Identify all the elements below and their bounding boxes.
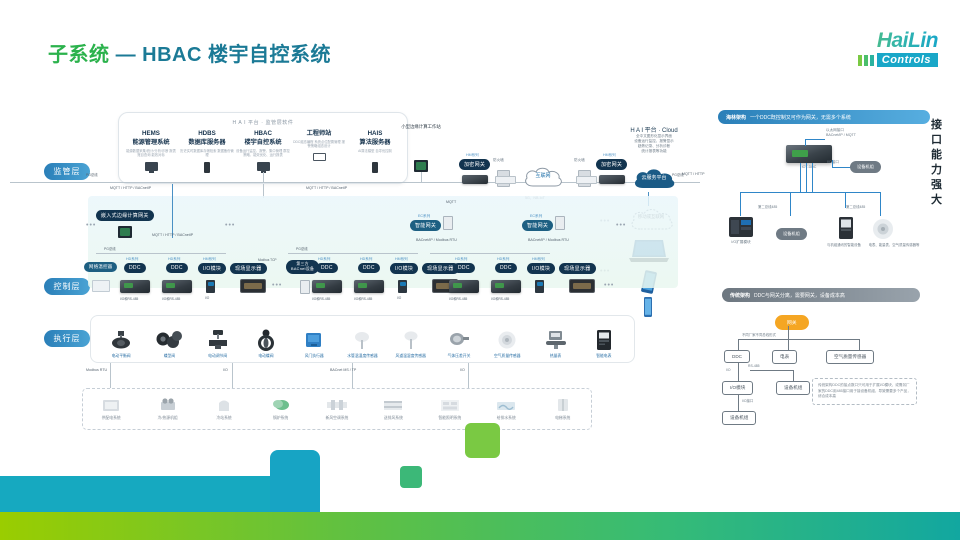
ellipsis-dots: ••• bbox=[604, 282, 614, 289]
ellipsis-dots: ••• bbox=[272, 282, 282, 289]
footer-gradient-bar bbox=[0, 512, 960, 540]
supervision-item[interactable]: HDBS 数据库服务器 历史实时数据库存储检索 数据备份管理 bbox=[180, 130, 234, 172]
field-display-chip-1[interactable]: 现场显示器 bbox=[230, 263, 267, 274]
ddc-device-icon-1 bbox=[120, 280, 150, 293]
pipe-sensor-icon bbox=[339, 328, 385, 352]
server-icon bbox=[200, 162, 214, 172]
bus-label-left: PG总线 bbox=[86, 172, 98, 177]
execution-device[interactable]: 智能电表 bbox=[581, 328, 627, 359]
execution-device[interactable]: 热量表 bbox=[533, 328, 579, 359]
system-label: 锅炉系统 bbox=[256, 416, 306, 421]
device-label: 智能电表 bbox=[581, 354, 627, 359]
execution-device[interactable]: 气体压差开关 bbox=[436, 328, 482, 359]
execution-device[interactable]: 电动调节阀 bbox=[195, 328, 241, 359]
supervision-item[interactable]: HAIS 算法服务器 AI算法模型 自寻优控制 bbox=[348, 130, 402, 172]
connector bbox=[740, 192, 741, 216]
wan-protocol-label: MQTT / HTTP bbox=[682, 172, 705, 176]
traditional-io-module-node[interactable]: I/O模块 bbox=[722, 381, 753, 395]
connector bbox=[738, 394, 739, 412]
exec-protocol-2: BACnet MS / TP bbox=[330, 368, 356, 372]
device-label: 气体压差开关 bbox=[436, 354, 482, 359]
motor-valve-icon bbox=[243, 328, 289, 352]
system-label: 电梯系统 bbox=[538, 416, 588, 421]
ethernet-port-label: 以太网接口 BACnet/IP / MQTT bbox=[826, 128, 896, 138]
cloud-service-label: 云服务平台 bbox=[634, 174, 674, 181]
ddc-device-icon-5 bbox=[449, 280, 479, 293]
bus-protocol-1: BACnet/IP / Modbus RTU bbox=[416, 238, 457, 242]
building-system[interactable]: 电梯系统 bbox=[538, 397, 588, 421]
ahu-icon bbox=[312, 397, 362, 413]
connector bbox=[738, 362, 739, 382]
io-module-chip-1[interactable]: I/O模块 bbox=[198, 263, 226, 274]
water-icon bbox=[481, 397, 531, 413]
execution-devices-panel: 电动平衡阀 蝶型阀 电动调节阀 电动蝶阀 bbox=[90, 315, 635, 363]
layer-pill-control: 控制层 bbox=[44, 278, 90, 295]
device-label: 风道温湿度传感器 bbox=[388, 354, 434, 359]
title-dash: — bbox=[116, 44, 143, 66]
gateway-series-1: HM系列 bbox=[466, 153, 479, 158]
item-name: 能源管理系统 bbox=[124, 138, 178, 147]
boiler-icon bbox=[256, 397, 306, 413]
connector bbox=[738, 339, 860, 340]
gateway-series-ec-1: EC系列 bbox=[418, 214, 430, 219]
logo-bars-icon bbox=[858, 55, 874, 66]
edge-protocol-label: MQTT / HTTP / BACnetIP bbox=[152, 233, 193, 237]
network-thermostat-icon bbox=[92, 280, 110, 292]
connector bbox=[750, 370, 794, 371]
firewall-icon-1 bbox=[497, 170, 510, 187]
power-system-icon bbox=[86, 397, 136, 413]
smart-device-icon bbox=[838, 216, 854, 245]
hailin-architecture-pill: 海林架构 一个DDC既控制又可作为网关，无需多个系统 bbox=[718, 110, 930, 124]
traditional-architecture-pill: 传统架构 DDC与网关分离，需要网关，设备成本高 bbox=[722, 288, 920, 302]
supervision-item[interactable]: HEMS 能源管理系统 能源数据采集/统计/分析/诊断 报表 账目查询 能效对标 bbox=[124, 130, 178, 172]
protocol-label-top2: MQTT / HTTP / BACnetIP bbox=[306, 186, 347, 190]
item-name: 数据库服务器 bbox=[180, 138, 234, 147]
system-label: 冷站系统 bbox=[199, 416, 249, 421]
network-thermostat-chip[interactable]: 网络温控器 bbox=[84, 262, 117, 272]
traditional-meter-node[interactable]: 电表 bbox=[772, 350, 797, 364]
embedded-edge-gateway-chip[interactable]: 嵌入式边缘计算网关 bbox=[96, 210, 154, 221]
ddc-chip-6[interactable]: DDC bbox=[495, 263, 517, 273]
item-desc: DDC组态编程 系统点位配置管理 报警策略组态设计 bbox=[292, 140, 346, 152]
fan-icon bbox=[368, 397, 418, 413]
gateway-series-2: HM系列 bbox=[603, 153, 616, 158]
phone-device-icon bbox=[641, 296, 655, 323]
smart-gateway-2[interactable]: 智能网关 bbox=[522, 220, 553, 231]
connector bbox=[812, 163, 813, 193]
gateway-hw-icon-2 bbox=[555, 216, 565, 230]
gateway-device-icon-1 bbox=[462, 175, 488, 184]
ddc-series-3: HD系列 bbox=[318, 257, 330, 262]
ddc-chip-1[interactable]: DDC bbox=[124, 263, 146, 273]
firewall-icon-2 bbox=[578, 170, 591, 187]
io-module-icon-2 bbox=[398, 280, 407, 293]
item-name: 楼宇自控系统 bbox=[236, 138, 290, 147]
io-expansion-label: I/O扩展模块 bbox=[718, 240, 764, 245]
ddc-proto-4: I/O和RS-485 bbox=[354, 296, 372, 301]
pg-bus-mid: PG总线 bbox=[296, 246, 308, 251]
io-series-1: HM系列 bbox=[203, 257, 216, 262]
vertical-text-content: 接口能力强大 bbox=[931, 119, 943, 206]
ddc-proto-5: I/O和RS-485 bbox=[449, 296, 467, 301]
firewall-label-2: 防火墙 bbox=[574, 158, 585, 163]
execution-device[interactable]: 风门执行器 bbox=[291, 328, 337, 359]
logo-wordmark: HaiLin bbox=[818, 30, 938, 52]
io-module-icon-3 bbox=[535, 280, 544, 293]
hailin-arch-text: 一个DDC既控制又可作为网关，无需多个系统 bbox=[750, 114, 851, 121]
io-proto-2: I/O bbox=[397, 296, 401, 300]
supervision-item[interactable]: 工程师站 DDC组态编程 系统点位配置管理 报警策略组态设计 bbox=[292, 130, 346, 172]
server-icon bbox=[368, 162, 382, 172]
pg-bus-line-2 bbox=[288, 253, 418, 254]
protocol-label-top: MQTT / HTTP / BACnetIP bbox=[110, 186, 151, 190]
io-proto-label: I/O bbox=[726, 368, 731, 372]
air-quality-icon bbox=[484, 328, 530, 352]
item-code: HAIS bbox=[348, 130, 402, 138]
gateway-device-icon-2 bbox=[599, 175, 625, 184]
connector bbox=[110, 363, 111, 388]
building-systems-panel: 供配电系统 冷/热源机组 冷站系统 锅炉系统 新风空调系统 送排风系统 bbox=[82, 388, 592, 430]
building-system[interactable]: 冷/热源机组 bbox=[143, 397, 193, 421]
item-desc: 历史实时数据库存储检索 数据备份管理 bbox=[180, 149, 234, 161]
building-system[interactable]: 智能照明系统 bbox=[425, 397, 475, 421]
device-unit-chip-1[interactable]: 设备机组 bbox=[850, 161, 881, 173]
system-label: 给排水系统 bbox=[481, 416, 531, 421]
connector bbox=[263, 172, 264, 183]
ddc-device-icon-2 bbox=[162, 280, 192, 293]
ddc-chip-3[interactable]: DDC bbox=[316, 263, 338, 273]
ddc-proto-3: I/O和RS-485 bbox=[312, 296, 330, 301]
ddc-series-6: HD系列 bbox=[497, 257, 509, 262]
smart-meter-icon bbox=[581, 328, 627, 352]
field-display-chip-3[interactable]: 现场显示器 bbox=[559, 263, 596, 274]
building-system[interactable]: 给排水系统 bbox=[481, 397, 531, 421]
ellipsis-dots: ••• bbox=[86, 222, 96, 229]
supervision-panel-title: H A I 平台 · 监管层软件 bbox=[119, 113, 407, 126]
logo-subtitle: Controls bbox=[877, 53, 938, 67]
gateway-series-ec-2: EC系列 bbox=[530, 214, 542, 219]
vendor-bus-note: 不同厂家不同总线形式 bbox=[742, 332, 776, 337]
exec-protocol-3: I/O bbox=[460, 368, 465, 372]
control-layer-band bbox=[88, 196, 678, 288]
exec-protocol-1: I/O bbox=[223, 368, 228, 372]
item-desc: AI算法模型 自寻优控制 bbox=[348, 149, 402, 161]
execution-device[interactable]: 风道温湿度传感器 bbox=[388, 328, 434, 359]
ellipsis-dots: ••• bbox=[616, 222, 626, 229]
encrypt-gateway-2[interactable]: 加密网关 bbox=[596, 159, 627, 170]
io-module-chip-2[interactable]: I/O模块 bbox=[390, 263, 418, 274]
ddc-proto-1: I/O和RS-485 bbox=[120, 296, 138, 301]
interface-capability-vertical-text: 接口能力强大 bbox=[928, 118, 946, 208]
exec-protocol-0: Modbus RTU bbox=[86, 368, 107, 372]
item-code: HBAC bbox=[236, 130, 290, 138]
building-system[interactable]: 锅炉系统 bbox=[256, 397, 306, 421]
pg-bus-line-3 bbox=[430, 253, 550, 254]
elevator-icon bbox=[538, 397, 588, 413]
building-system[interactable]: 送排风系统 bbox=[368, 397, 418, 421]
internet-label: 互联网 bbox=[526, 172, 560, 179]
item-desc: 能源数据采集/统计/分析/诊断 报表 账目查询 能效对标 bbox=[124, 149, 178, 161]
ddc-proto-6: I/O和RS-485 bbox=[491, 296, 509, 301]
system-label: 智能照明系统 bbox=[425, 416, 475, 421]
gateway-hw-icon-1 bbox=[443, 216, 453, 230]
ddc-device-icon-6 bbox=[491, 280, 521, 293]
traditional-ddc-node[interactable]: DDC bbox=[724, 350, 750, 363]
io-series-2: HM系列 bbox=[395, 257, 408, 262]
execution-device[interactable]: 水管温湿度传感器 bbox=[339, 328, 385, 359]
pressure-switch-icon bbox=[436, 328, 482, 352]
device-label: 热量表 bbox=[533, 354, 579, 359]
traditional-air-sensor-node[interactable]: 空气质量传感器 bbox=[826, 350, 874, 364]
monitor-icon bbox=[144, 162, 158, 172]
slide-root: 子系统 — HBAC 楼宇自控系统 HaiLin Controls 监管层 控制… bbox=[0, 0, 960, 540]
cooling-station-icon bbox=[199, 397, 249, 413]
layer-pill-execution: 执行层 bbox=[44, 330, 90, 347]
ddc-series-4: HD系列 bbox=[360, 257, 372, 262]
bus-protocol-2: BACnet/IP / Modbus RTU bbox=[528, 238, 569, 242]
iot-ddc-label: IOT-DDC bbox=[780, 165, 838, 169]
lighting-icon bbox=[425, 397, 475, 413]
connector bbox=[790, 192, 791, 216]
third-party-device-icon bbox=[300, 280, 310, 294]
edge-workstation-label: 小型边缘计算工作站 bbox=[398, 124, 444, 130]
device-label: 电动调节阀 bbox=[195, 354, 241, 359]
ddc-series-5: HD系列 bbox=[455, 257, 467, 262]
firewall-label-1: 防火墙 bbox=[493, 158, 504, 163]
system-label: 冷/热源机组 bbox=[143, 416, 193, 421]
ellipsis-dots: ••• bbox=[225, 222, 235, 229]
mqtt-label: MQTT bbox=[446, 200, 456, 204]
ddc-device-icon-3 bbox=[312, 280, 342, 293]
modbus-tcp-label: Modbus TCP bbox=[258, 258, 277, 262]
third-party-bacnet-chip[interactable]: 第三方 BACnet设备 bbox=[286, 260, 319, 274]
traditional-arch-text: DDC与网关分离，需要网关，设备成本高 bbox=[754, 292, 845, 299]
decoration-shape-1 bbox=[0, 476, 300, 512]
smart-gateway-1[interactable]: 智能网关 bbox=[410, 220, 441, 231]
field-display-icon-3 bbox=[569, 279, 595, 293]
encrypt-gateway-1[interactable]: 加密网关 bbox=[459, 159, 490, 170]
connector bbox=[788, 326, 789, 340]
connector bbox=[800, 163, 801, 193]
item-name: 算法服务器 bbox=[348, 138, 402, 147]
device-label: 蝶型阀 bbox=[146, 354, 192, 359]
decoration-shape-4 bbox=[465, 423, 500, 458]
hailin-arch-tag: 海林架构 bbox=[726, 114, 746, 121]
system-label: 送排风系统 bbox=[368, 416, 418, 421]
connector bbox=[880, 192, 881, 216]
ddc-device-icon-4 bbox=[354, 280, 384, 293]
edge-gateway-icon bbox=[118, 226, 132, 238]
bus-485-label-2: 第二总线485 bbox=[846, 204, 865, 209]
traditional-device-unit-node-2[interactable]: 设备机组 bbox=[722, 411, 756, 425]
connector bbox=[352, 363, 353, 388]
pg-bus-line-1 bbox=[96, 253, 226, 254]
device-label: 电动平衡阀 bbox=[98, 354, 144, 359]
field-display-icon-1 bbox=[240, 279, 266, 293]
page-title: 子系统 — HBAC 楼宇自控系统 bbox=[48, 38, 331, 67]
execution-device[interactable]: 空气质量传感器 bbox=[484, 328, 530, 359]
item-code: HEMS bbox=[124, 130, 178, 138]
cloud-platform-desc: 全中文图形化显示界面 设备运行监控、报警显示 趋势记录、分析诊断 统计报表等功能 bbox=[608, 134, 700, 154]
building-system[interactable]: 新风空调系统 bbox=[312, 397, 362, 421]
io-proto-1: I/O bbox=[205, 296, 209, 300]
execution-device[interactable]: 蝶型阀 bbox=[146, 328, 192, 359]
sensor-group-label: 电表、能量表、空气质量传感器等 bbox=[862, 242, 926, 247]
chiller-icon bbox=[143, 397, 193, 413]
execution-device[interactable]: 电动蝶阀 bbox=[243, 328, 289, 359]
damper-actuator-icon bbox=[291, 328, 337, 352]
monitor-icon bbox=[256, 162, 270, 172]
ddc-chip-5[interactable]: DDC bbox=[453, 263, 475, 273]
system-label: 新风空调系统 bbox=[312, 416, 362, 421]
gateway-node[interactable]: 网关 bbox=[775, 315, 809, 330]
decoration-shape-2 bbox=[270, 450, 320, 512]
building-system[interactable]: 冷站系统 bbox=[199, 397, 249, 421]
bus-485-label-1: 第二总线485 bbox=[758, 204, 777, 209]
hailin-logo: HaiLin Controls bbox=[818, 30, 938, 76]
item-desc: 设备运行监控、报警、集中管理 群控策略、能效优化、运行报表 bbox=[236, 149, 290, 161]
connector bbox=[740, 192, 880, 193]
io-module-icon-1 bbox=[206, 280, 215, 293]
device-label: 电动蝶阀 bbox=[243, 354, 289, 359]
balance-valve-icon bbox=[98, 328, 144, 352]
io-expansion-device-icon bbox=[728, 216, 754, 243]
connector bbox=[232, 363, 233, 388]
title-blue-part: HBAC 楼宇自控系统 bbox=[142, 44, 331, 66]
system-label: 供配电系统 bbox=[86, 416, 136, 421]
connector bbox=[421, 172, 422, 182]
io-series-3: HM系列 bbox=[532, 257, 545, 262]
traditional-note: 传统架构DDC的接点数口只可用于扩展I/O模块，或需另厂家的DDC用485接口用… bbox=[812, 378, 917, 405]
decoration-shape-3 bbox=[400, 466, 422, 488]
duct-sensor-icon bbox=[388, 328, 434, 352]
air-quality-sensor-icon bbox=[872, 218, 894, 245]
building-system[interactable]: 供配电系统 bbox=[86, 397, 136, 421]
heat-meter-icon bbox=[533, 328, 579, 352]
item-code: 工程师站 bbox=[292, 130, 346, 138]
traditional-arch-tag: 传统架构 bbox=[730, 292, 750, 299]
connector bbox=[805, 139, 825, 140]
device-unit-chip-2[interactable]: 设备机组 bbox=[776, 228, 807, 240]
title-green-part: 子系统 bbox=[48, 44, 116, 66]
io-module-chip-3[interactable]: I/O模块 bbox=[527, 263, 555, 274]
control-valve-icon bbox=[195, 328, 241, 352]
connector bbox=[806, 163, 807, 193]
device-label: 风门执行器 bbox=[291, 354, 337, 359]
device-label: 空气质量传感器 bbox=[484, 354, 530, 359]
ddc-chip-4[interactable]: DDC bbox=[358, 263, 380, 273]
rs485-label: RS-485 bbox=[748, 364, 760, 368]
laptop-icon bbox=[312, 153, 326, 163]
ddc-series-2: HD系列 bbox=[168, 257, 180, 262]
connector bbox=[468, 363, 469, 388]
device-label: 水管温湿度传感器 bbox=[339, 354, 385, 359]
ddc-series-1: HD系列 bbox=[126, 257, 138, 262]
ddc-chip-2[interactable]: DDC bbox=[166, 263, 188, 273]
item-code: HDBS bbox=[180, 130, 234, 138]
edge-workstation-icon bbox=[414, 160, 428, 172]
cloud-platform-title: H A I 平台 · Cloud bbox=[608, 125, 700, 134]
connector bbox=[172, 184, 173, 238]
io-port-proto-label: I/O接口 bbox=[742, 398, 753, 403]
butterfly-valve-icon bbox=[146, 328, 192, 352]
layer-pill-supervision: 监管层 bbox=[44, 163, 90, 180]
ddc-proto-2: I/O和RS-485 bbox=[162, 296, 180, 301]
supervision-item[interactable]: HBAC 楼宇自控系统 设备运行监控、报警、集中管理 群控策略、能效优化、运行报… bbox=[236, 130, 290, 172]
traditional-device-unit-node[interactable]: 设备机组 bbox=[776, 381, 810, 395]
execution-device[interactable]: 电动平衡阀 bbox=[98, 328, 144, 359]
pg-bus-left: PG总线 bbox=[104, 246, 116, 251]
connector bbox=[805, 140, 806, 146]
